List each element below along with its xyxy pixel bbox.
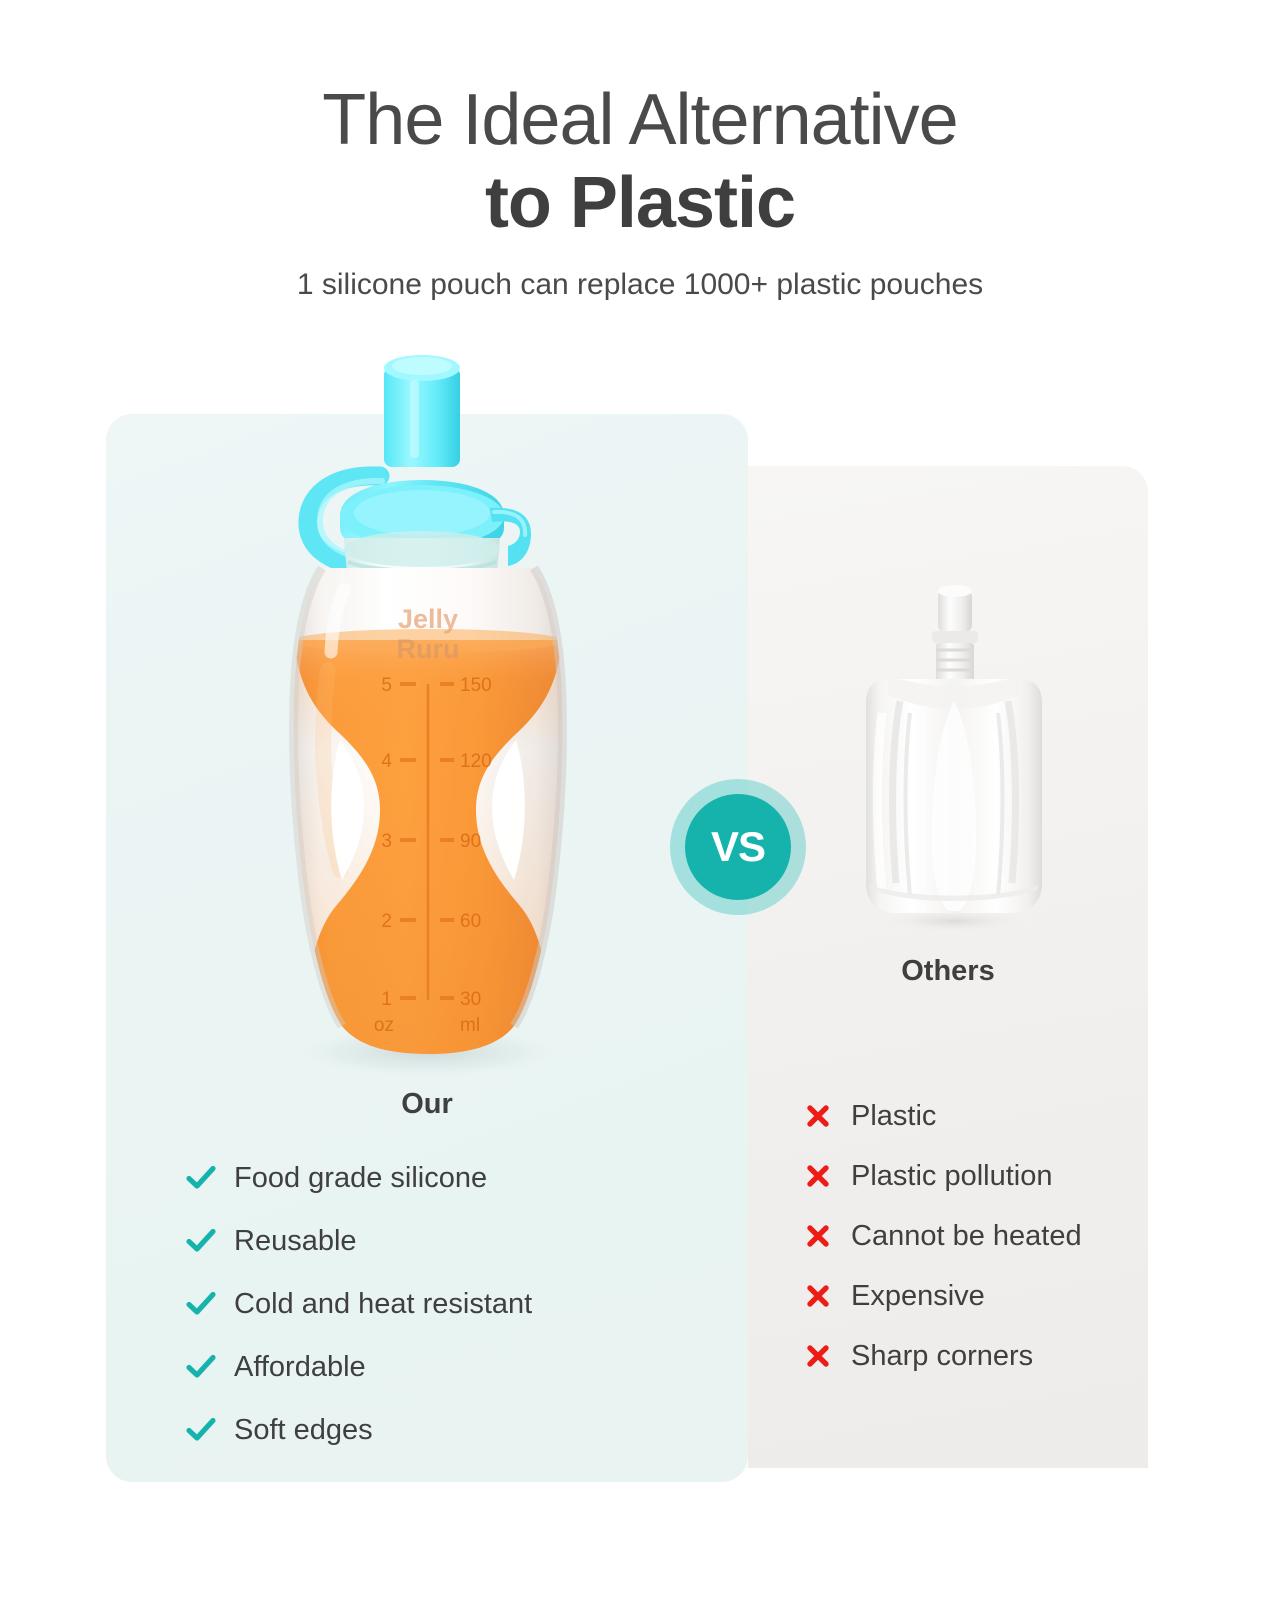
- page-subtitle: 1 silicone pouch can replace 1000+ plast…: [0, 266, 1280, 304]
- scale-unit-oz: oz: [374, 1015, 394, 1036]
- infographic-page: The Ideal Alternative to Plastic 1 silic…: [0, 0, 1280, 1600]
- cross-icon: [805, 1283, 841, 1309]
- cross-icon: [805, 1103, 841, 1129]
- list-item: Plastic pollution: [805, 1146, 1145, 1206]
- list-item-label: Affordable: [222, 1350, 366, 1384]
- scale-ml-150: 150: [460, 675, 492, 696]
- cross-icon: [805, 1343, 841, 1369]
- list-item: Plastic: [805, 1086, 1145, 1146]
- check-icon: [186, 1228, 222, 1254]
- scale-oz-3: 3: [381, 831, 392, 852]
- cross-icon: [805, 1223, 841, 1249]
- header: The Ideal Alternative to Plastic 1 silic…: [0, 78, 1280, 304]
- scale-oz-4: 4: [381, 751, 392, 772]
- list-item: Cold and heat resistant: [186, 1272, 746, 1335]
- page-title-line-1: The Ideal Alternative: [0, 78, 1280, 162]
- plastic-pouch-image: [848, 583, 1060, 931]
- vs-badge-label: VS: [711, 826, 765, 868]
- list-item-label: Cannot be heated: [841, 1219, 1082, 1253]
- list-item: Expensive: [805, 1266, 1145, 1326]
- scale-ml-30: 30: [460, 989, 481, 1010]
- list-item: Soft edges: [186, 1398, 746, 1461]
- list-item-label: Expensive: [841, 1279, 985, 1313]
- list-item-label: Cold and heat resistant: [222, 1287, 532, 1321]
- check-icon: [186, 1165, 222, 1191]
- list-item: Affordable: [186, 1335, 746, 1398]
- check-icon: [186, 1417, 222, 1443]
- our-feature-list: Food grade silicone Reusable Cold and he…: [186, 1146, 746, 1461]
- brand-line-1: Jelly: [398, 604, 458, 634]
- check-icon: [186, 1354, 222, 1380]
- check-icon: [186, 1291, 222, 1317]
- list-item: Cannot be heated: [805, 1206, 1145, 1266]
- list-item-label: Plastic pollution: [841, 1159, 1053, 1193]
- scale-oz-2: 2: [381, 911, 392, 932]
- our-column-heading: Our: [106, 1088, 748, 1121]
- list-item: Food grade silicone: [186, 1146, 746, 1209]
- vs-badge: VS: [670, 779, 806, 915]
- list-item-label: Reusable: [222, 1224, 357, 1258]
- scale-ml-90: 90: [460, 831, 481, 852]
- cross-icon: [805, 1163, 841, 1189]
- scale-oz-5: 5: [381, 675, 392, 696]
- list-item: Reusable: [186, 1209, 746, 1272]
- page-title-line-2: to Plastic: [0, 162, 1280, 244]
- scale-ml-60: 60: [460, 911, 481, 932]
- list-item-label: Sharp corners: [841, 1339, 1033, 1373]
- silicone-pouch-bottle-image: Jelly Ruru 5 4 3 2: [232, 340, 622, 1080]
- others-column-heading: Others: [748, 955, 1148, 988]
- list-item-label: Soft edges: [222, 1413, 373, 1447]
- list-item-label: Plastic: [841, 1099, 936, 1133]
- list-item-label: Food grade silicone: [222, 1161, 487, 1195]
- scale-oz-1: 1: [381, 989, 392, 1010]
- brand-line-2: Ruru: [397, 634, 460, 664]
- scale-ml-120: 120: [460, 751, 492, 772]
- scale-unit-ml: ml: [460, 1015, 480, 1036]
- others-feature-list: Plastic Plastic pollution Cannot be heat…: [805, 1086, 1145, 1386]
- vs-badge-circle: VS: [685, 794, 791, 900]
- list-item: Sharp corners: [805, 1326, 1145, 1386]
